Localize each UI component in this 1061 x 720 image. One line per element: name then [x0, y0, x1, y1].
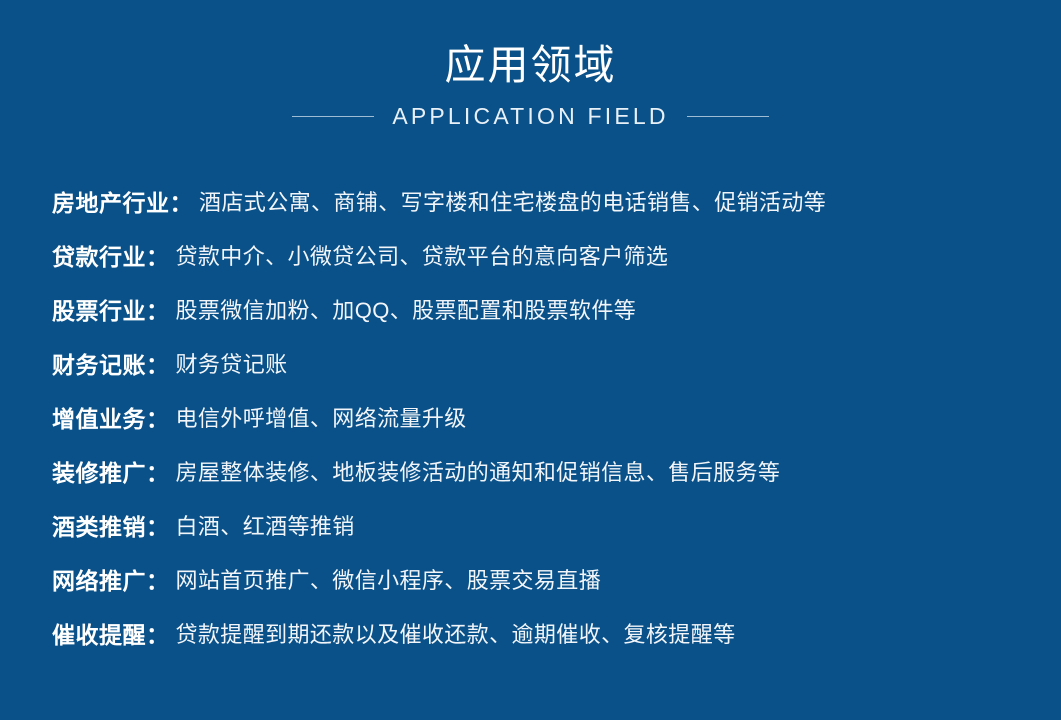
list-item: 催收提醒： 贷款提醒到期还款以及催收还款、逾期催收、复核提醒等 — [52, 606, 1032, 660]
divider-line-left — [292, 116, 374, 117]
page-title: 应用领域 — [0, 40, 1061, 90]
list-item: 增值业务： 电信外呼增值、网络流量升级 — [52, 390, 1032, 444]
slide-header: 应用领域 APPLICATION FIELD — [0, 40, 1061, 130]
list-item: 财务记账： 财务贷记账 — [52, 336, 1032, 390]
list-item: 贷款行业： 贷款中介、小微贷公司、贷款平台的意向客户筛选 — [52, 228, 1032, 282]
field-value: 贷款中介、小微贷公司、贷款平台的意向客户筛选 — [176, 239, 669, 271]
application-field-list: 房地产行业： 酒店式公寓、商铺、写字楼和住宅楼盘的电话销售、促销活动等 贷款行业… — [52, 174, 1032, 660]
field-value: 股票微信加粉、加QQ、股票配置和股票软件等 — [176, 293, 637, 325]
field-label: 装修推广： — [52, 454, 170, 488]
field-value: 网站首页推广、微信小程序、股票交易直播 — [176, 563, 602, 595]
field-value: 贷款提醒到期还款以及催收还款、逾期催收、复核提醒等 — [176, 617, 736, 649]
page-subtitle: APPLICATION FIELD — [392, 102, 668, 130]
field-label: 酒类推销： — [52, 508, 170, 542]
field-label: 财务记账： — [52, 346, 170, 380]
subtitle-row: APPLICATION FIELD — [0, 102, 1061, 130]
list-item: 酒类推销： 白酒、红酒等推销 — [52, 498, 1032, 552]
field-value: 白酒、红酒等推销 — [176, 509, 355, 541]
field-value: 财务贷记账 — [176, 347, 288, 379]
list-item: 装修推广： 房屋整体装修、地板装修活动的通知和促销信息、售后服务等 — [52, 444, 1032, 498]
field-label: 贷款行业： — [52, 238, 170, 272]
field-label: 增值业务： — [52, 400, 170, 434]
divider-line-right — [687, 116, 769, 117]
list-item: 房地产行业： 酒店式公寓、商铺、写字楼和住宅楼盘的电话销售、促销活动等 — [52, 174, 1032, 228]
list-item: 网络推广： 网站首页推广、微信小程序、股票交易直播 — [52, 552, 1032, 606]
list-item: 股票行业： 股票微信加粉、加QQ、股票配置和股票软件等 — [52, 282, 1032, 336]
field-label: 网络推广： — [52, 562, 170, 596]
field-value: 房屋整体装修、地板装修活动的通知和促销信息、售后服务等 — [176, 455, 781, 487]
field-label: 股票行业： — [52, 292, 170, 326]
field-label: 房地产行业： — [52, 184, 193, 218]
field-value: 电信外呼增值、网络流量升级 — [176, 401, 467, 433]
slide-root: 应用领域 APPLICATION FIELD 房地产行业： 酒店式公寓、商铺、写… — [0, 0, 1061, 720]
field-label: 催收提醒： — [52, 616, 170, 650]
field-value: 酒店式公寓、商铺、写字楼和住宅楼盘的电话销售、促销活动等 — [199, 185, 826, 217]
